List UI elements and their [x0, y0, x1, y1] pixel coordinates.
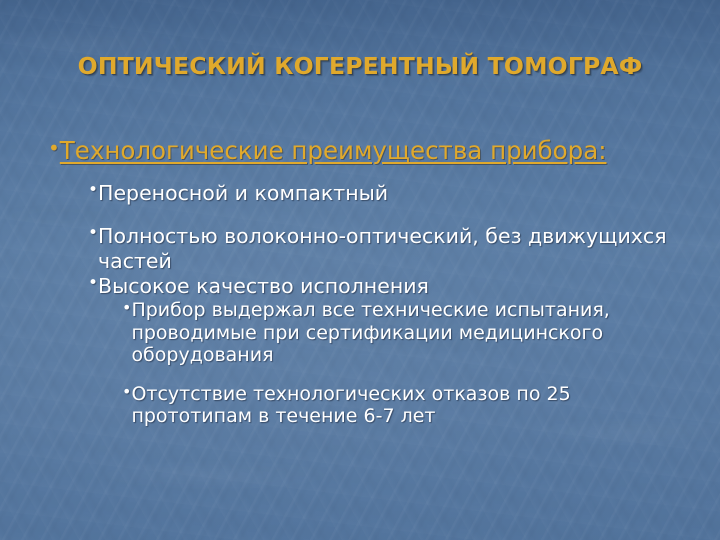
bullet-dot-icon: •	[122, 299, 131, 316]
bullet-text: Прибор выдержал все технические испытани…	[131, 299, 696, 367]
bullet-dot-icon: •	[88, 274, 98, 292]
bullet-text: Переносной и компактный	[98, 181, 680, 206]
bullet-text: Технологические преимущества прибора:	[60, 136, 700, 165]
bullet-text: Высокое качество исполнения	[98, 274, 680, 299]
bullet-item-level2-portable: • Переносной и компактный	[88, 181, 680, 206]
slide-title-block: ОПТИЧЕСКИЙ КОГЕРЕНТНЫЙ ТОМОГРАФ	[0, 52, 720, 80]
bullet-item-level1-advantages: • Технологические преимущества прибора:	[48, 136, 700, 165]
bullet-item-level2-quality: • Высокое качество исполнения	[88, 274, 680, 299]
bullet-item-level3-certification: • Прибор выдержал все технические испыта…	[122, 299, 696, 367]
bullet-text: Полностью волоконно-оптический, без движ…	[98, 224, 680, 274]
bullet-dot-icon: •	[48, 136, 60, 158]
bullet-text: Отсутствие технологических отказов по 25…	[131, 383, 696, 428]
bullet-item-level3-no-failures: • Отсутствие технологических отказов по …	[122, 383, 696, 428]
bullet-dot-icon: •	[88, 181, 98, 199]
slide-body-content: • Технологические преимущества прибора: …	[0, 136, 720, 428]
bullet-dot-icon: •	[122, 383, 131, 400]
page-title: ОПТИЧЕСКИЙ КОГЕРЕНТНЫЙ ТОМОГРАФ	[78, 52, 643, 80]
bullet-item-level2-fiber-optic: • Полностью волоконно-оптический, без дв…	[88, 224, 680, 274]
presentation-slide: ОПТИЧЕСКИЙ КОГЕРЕНТНЫЙ ТОМОГРАФ • Технол…	[0, 0, 720, 540]
bullet-dot-icon: •	[88, 224, 98, 242]
